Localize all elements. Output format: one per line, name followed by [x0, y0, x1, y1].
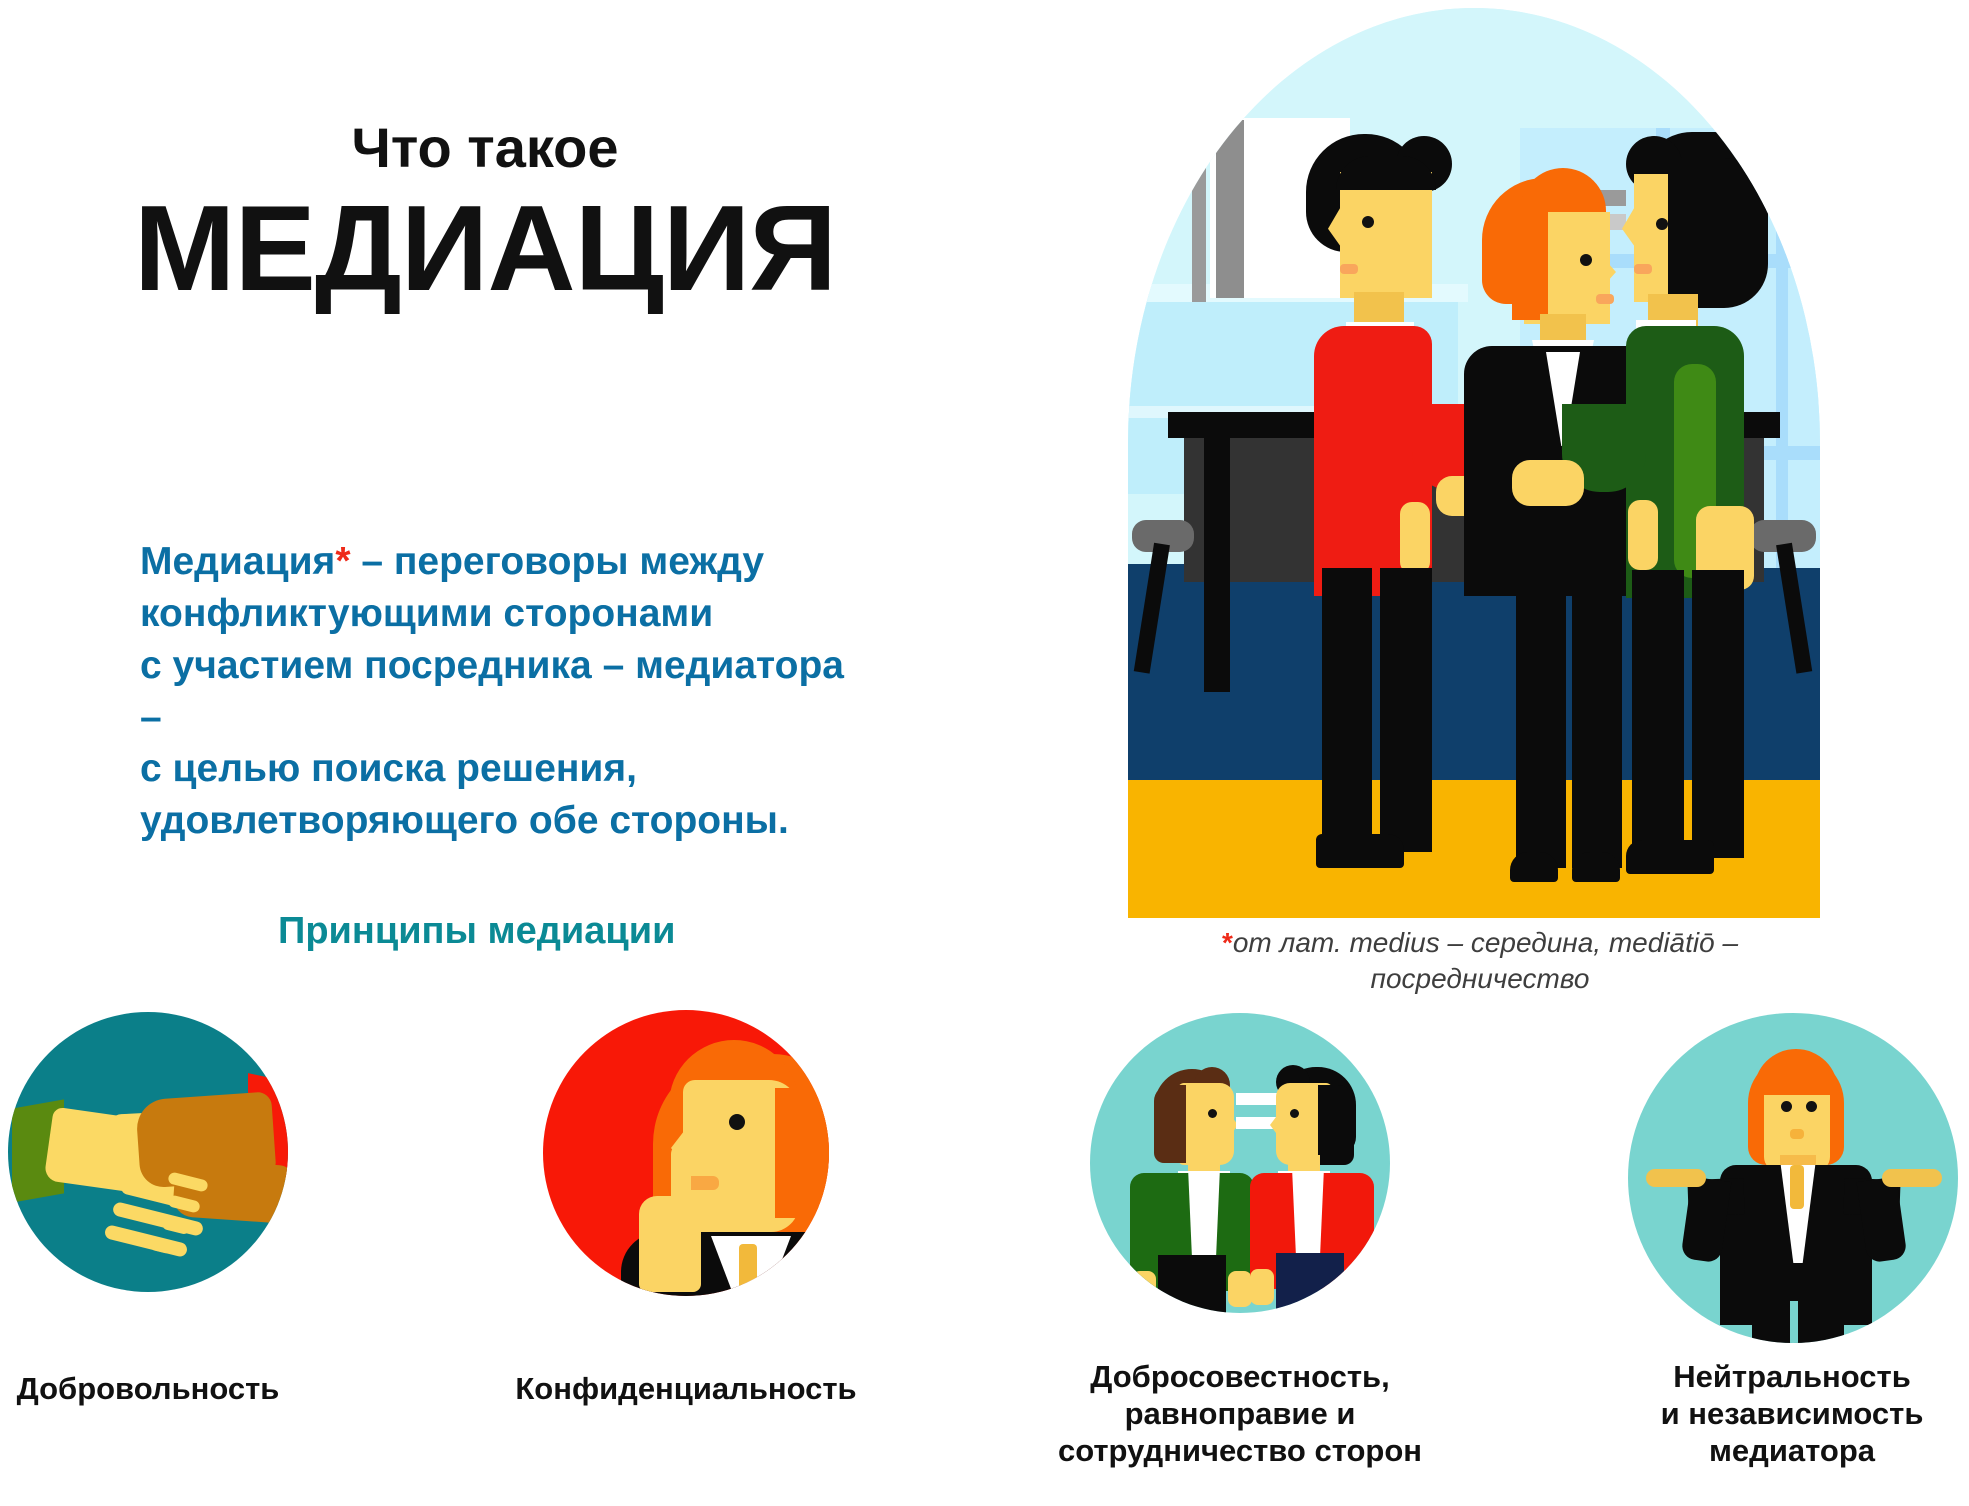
- lead-paragraph: Медиация* – переговоры между конфликтующ…: [140, 536, 860, 847]
- man-right-eye: [1290, 1109, 1299, 1118]
- asterisk-marker: *: [335, 540, 350, 583]
- woman-hair-top: [1754, 1049, 1838, 1095]
- hair-side-shape: [775, 1088, 829, 1218]
- board-edge-thin: [1192, 136, 1206, 302]
- page-kicker: Что такое: [90, 120, 880, 176]
- window-mullion-v2: [1776, 96, 1788, 568]
- two-men-equals-icon: [1090, 1013, 1390, 1313]
- lip-left: [1340, 264, 1358, 274]
- woman-skirt: [1752, 1263, 1844, 1343]
- shoe-mediator-2: [1572, 852, 1620, 882]
- eye-shape: [729, 1114, 745, 1130]
- handshake-icon: [8, 1012, 288, 1292]
- title-block: Что такое МЕДИАЦИЯ: [90, 120, 880, 310]
- face-left: [1340, 172, 1432, 298]
- man-left-hand-2: [1228, 1271, 1252, 1307]
- leg-left-2: [1380, 568, 1432, 852]
- hair-front-left: [1336, 156, 1436, 190]
- principle-label-3-line2: равноправие и: [1000, 1395, 1480, 1432]
- hand-shape: [639, 1196, 701, 1292]
- man-right-trousers: [1276, 1253, 1344, 1313]
- shoe-mediator-1: [1510, 852, 1558, 882]
- shoe-right: [1626, 840, 1714, 874]
- leg-mediator-2: [1572, 568, 1622, 868]
- footnote-asterisk: *: [1222, 927, 1233, 958]
- woman-eye-left: [1781, 1101, 1792, 1112]
- lead-line-4: с целью поиска решения,: [140, 743, 860, 795]
- lead-term: Медиация: [140, 540, 335, 583]
- principle-icon-3[interactable]: [1090, 1013, 1390, 1313]
- principle-label-2: Конфиденциальность: [430, 1370, 942, 1407]
- hair-side-right: [1668, 158, 1768, 308]
- lead-line-5: удовлетворяющего обе стороны.: [140, 795, 860, 847]
- illustration-frame: [1128, 8, 1820, 918]
- leg-right-1: [1632, 570, 1684, 858]
- desk-leg-left: [1204, 432, 1230, 692]
- leg-mediator-1: [1516, 568, 1566, 868]
- page-title: МЕДИАЦИЯ: [90, 186, 880, 310]
- board-edge-thick: [1216, 120, 1244, 298]
- footnote-text: от лат. medius – середина, mediātiō – по…: [1233, 927, 1738, 994]
- principle-icon-1[interactable]: [8, 1012, 288, 1292]
- main-illustration: [1128, 8, 1820, 918]
- leg-left-1: [1322, 568, 1372, 852]
- lead-line-3: с участием посредника – медиатора –: [140, 640, 860, 744]
- man-right-hand-1: [1250, 1269, 1274, 1305]
- principle-label-4-line3: медиатора: [1592, 1432, 1969, 1469]
- handshake-hand-green: [1512, 460, 1584, 506]
- man-left-hair-side: [1154, 1085, 1186, 1163]
- man-right-hair-side: [1318, 1085, 1354, 1165]
- man-left-trousers: [1158, 1255, 1226, 1313]
- shoe-left: [1316, 834, 1404, 868]
- hair-side-mediator: [1512, 204, 1548, 320]
- hand-left-down: [1400, 502, 1430, 574]
- principle-label-4-line2: и независимость: [1592, 1395, 1969, 1432]
- woman-lip: [1790, 1129, 1804, 1139]
- shush-woman-icon: [543, 1010, 829, 1296]
- woman-eye-right: [1806, 1101, 1817, 1112]
- eye-left: [1362, 216, 1374, 228]
- principle-icon-2[interactable]: [543, 1010, 829, 1296]
- eye-mediator: [1580, 254, 1592, 266]
- lip-right: [1634, 264, 1652, 274]
- man-left-eye: [1208, 1109, 1217, 1118]
- man-left-hand-1: [1132, 1271, 1156, 1307]
- man-left-face: [1178, 1083, 1234, 1165]
- woman-tie-accent: [1790, 1165, 1804, 1209]
- principle-label-4-line1: Нейтральность: [1592, 1358, 1969, 1395]
- hand-dark-grip: [172, 1158, 288, 1224]
- lip-mediator: [1596, 294, 1614, 304]
- woman-hand-right: [1882, 1169, 1942, 1187]
- neutral-woman-icon: [1628, 1013, 1958, 1343]
- principles-heading: Принципы медиации: [278, 910, 675, 953]
- infographic-page: Что такое МЕДИАЦИЯ Медиация* – переговор…: [0, 0, 1969, 1506]
- leg-right-2: [1692, 570, 1744, 858]
- woman-hand-left: [1646, 1169, 1706, 1187]
- man-right-hand-2: [1346, 1269, 1370, 1305]
- principle-label-4: Нейтральность и независимость медиатора: [1592, 1358, 1969, 1470]
- lead-line-2: конфликтующими сторонами: [140, 588, 860, 640]
- collar-accent: [739, 1244, 757, 1292]
- hand-right-down-1: [1628, 500, 1658, 570]
- principle-label-1: Добровольность: [0, 1370, 296, 1407]
- principle-label-3-line1: Добросовестность,: [1000, 1358, 1480, 1395]
- woman-leg-gap: [1790, 1301, 1798, 1343]
- lead-line-1: Медиация* – переговоры между: [140, 536, 860, 588]
- principle-label-3-line3: сотрудничество сторон: [1000, 1432, 1480, 1469]
- index-finger-shape: [671, 1144, 691, 1216]
- eye-right: [1656, 218, 1668, 230]
- principle-label-3: Добросовестность, равноправие и сотрудни…: [1000, 1358, 1480, 1470]
- footnote: *от лат. medius – середина, mediātiō – п…: [1160, 925, 1800, 997]
- principle-icon-4[interactable]: [1628, 1013, 1958, 1343]
- lead-line-1-rest: – переговоры между: [351, 540, 765, 583]
